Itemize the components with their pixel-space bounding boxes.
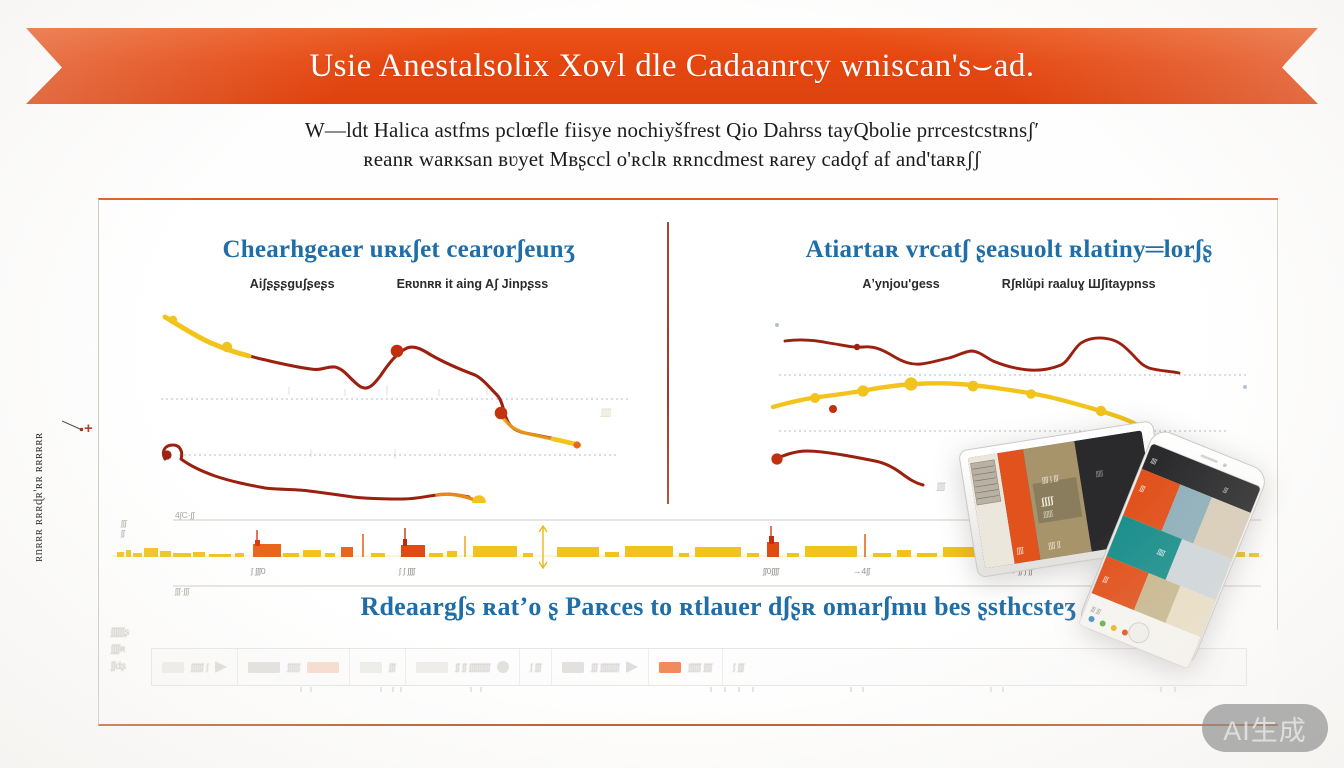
toolbar-group[interactable]: ʃʃʃʃʃʃ <box>238 649 350 685</box>
toolbar-chip-icon[interactable] <box>416 662 448 673</box>
data-point <box>222 342 232 352</box>
data-point <box>1096 406 1106 416</box>
poster-title: Usie Anestalsolix Xovl dle Cadaanrcy wni… <box>26 28 1318 104</box>
toolbar-tick-marks <box>151 687 1247 695</box>
chart-panel-left-legend: Aiʃʂʂʂguʃʂeʂs Eʀʋnʀʀ it aing Aʃ Jinpʂss <box>149 277 649 291</box>
toolbar-chip-orange-icon[interactable] <box>659 662 681 673</box>
vertical-axis-caption: ʀnʀʀʀ ʀʀʀɖʀ'ʀʀ ʀʀʀʀʀʀ <box>30 382 46 562</box>
data-point <box>771 453 782 464</box>
track-annotation: →4ʃʃ <box>853 566 871 576</box>
right-trace-bottom <box>775 451 923 485</box>
bottom-axis-labels: ʃʃʃʃʃʃʂ ʃʃʃʃʀ ʃʃdʂ <box>111 624 129 675</box>
bottom-axis-label: ʃʃʃʃʀ <box>111 641 129 658</box>
toolbar-label: ʃʃ ʃʃ ʃʃʃʃʃʃʃʃʃʃ <box>455 662 490 673</box>
data-point <box>573 441 580 448</box>
left-trace-upper <box>165 317 573 443</box>
left-trace-lower <box>163 445 469 499</box>
track-left-tick: ʃʃ <box>120 528 126 538</box>
toolbar-label: ʃʃʃ ʃʃʃʃʃʃʃʃʃ <box>591 662 619 673</box>
svg-text:ʃʃʃʃʃ: ʃʃʃʃʃ <box>1094 470 1104 478</box>
data-point <box>1026 389 1036 399</box>
left-sparkline-svg: ʃʃʃʃʃ <box>149 303 649 503</box>
legend-item: Rʃʀlǔpi raaluɣ Шʃitaypnss <box>1002 277 1156 291</box>
ai-generated-watermark: AI生成 <box>1202 704 1328 752</box>
data-point <box>968 381 979 392</box>
toolbar-label: ʃʃʃʃʃʃ <box>287 662 300 673</box>
chart-panel-left-plot: ʃʃʃʃʃ <box>149 303 649 503</box>
plot-dot <box>775 323 779 327</box>
panel-divider <box>667 222 669 504</box>
toolbar-label: ʃʃʃʃʃʃ ʃ <box>191 662 208 673</box>
data-point <box>854 344 860 350</box>
toolbar-chip-icon[interactable] <box>162 662 184 673</box>
data-point <box>857 385 868 396</box>
toolbar-arrow-icon[interactable] <box>215 661 227 673</box>
data-point <box>904 377 917 390</box>
toolbar-group[interactable]: ʃʃʃ <box>350 649 406 685</box>
data-point <box>391 345 404 358</box>
data-point-accent <box>829 405 837 413</box>
toolbar-dot-icon[interactable] <box>497 661 509 673</box>
toolbar-label: ʃʃʃʃʃʃ ʃʃʃʃ <box>688 662 712 673</box>
subtitle-line-2: ʀeanʀ waʀĸsan ʙʋyet Mʙʂccl o'ʀclʀ ʀʀncdm… <box>172 145 1172 174</box>
track-arrow-marker <box>539 526 547 568</box>
toolbar-chip-icon[interactable] <box>360 662 382 673</box>
toolbar-group[interactable]: ʃʃʃʃʃʃ ʃ <box>152 649 238 685</box>
track-annotation: ʃ ʃʃʃ0 <box>250 566 266 576</box>
toolbar-label: ʃ ʃʃʃ <box>530 662 541 673</box>
plot-dot <box>1243 385 1247 389</box>
device-mockup-svg: ʃʃʃʃ ʃ ʃʃʃ ʃʃʃʃ ʃʃʃʃʃʃ ʃʃʃʃʃ ʃʃʃʃ ʃʃʃʃ ʃ… <box>950 420 1330 670</box>
toolbar-label: ʃ ʃʃʃ <box>733 662 744 673</box>
plot-smudge-label: ʃʃʃʃʃ <box>600 407 612 417</box>
toolbar-group[interactable]: ʃʃʃʃʃʃ ʃʃʃʃ <box>649 649 723 685</box>
chart-panel-left-title: Chearhgeaer uʀĸʃet cearorʃeunʒ <box>149 236 649 264</box>
data-point <box>495 407 508 420</box>
track-annotation: ʃ ʃ ʃʃʃʃ <box>398 566 416 576</box>
caption-plus-marker-icon: + <box>84 421 93 436</box>
data-point <box>810 393 820 403</box>
bottom-axis-label: ʃʃʃʃʃʃʂ <box>111 624 129 641</box>
legend-item: Eʀʋnʀʀ it aing Aʃ Jinpʂss <box>397 277 549 291</box>
subtitle-line-1: W—ldt Halica astfms pclœfle fiisye nochi… <box>305 118 1039 142</box>
toolbar-group[interactable]: ʃʃʃ ʃʃʃʃʃʃʃʃʃ <box>552 649 649 685</box>
toolbar-group[interactable]: ʃ ʃʃʃ <box>723 649 754 685</box>
banner: Usie Anestalsolix Xovl dle Cadaanrcy wni… <box>26 28 1318 104</box>
toolbar-chip-icon[interactable] <box>248 662 280 673</box>
legend-item: Aiʃʂʂʂguʃʂeʂs <box>250 277 335 291</box>
toolbar-chip-icon[interactable] <box>562 662 584 673</box>
data-point <box>162 450 171 459</box>
plot-smudge-label: ʃʃʃʃ <box>936 481 946 491</box>
right-trace-top <box>785 338 1179 373</box>
chart-panel-left: Chearhgeaer uʀĸʃet cearorʃeunʒ Aiʃʂʂʂguʃ… <box>149 236 649 516</box>
chart-panel-right-title: Atiartaʀ vrcatʃ ʂeasuolt ʀlatiny═lorʃʂ <box>759 236 1259 264</box>
data-point <box>472 495 486 503</box>
data-point <box>169 316 177 324</box>
track-top-axis-label: 4ʃC·ʃʃ <box>175 512 195 520</box>
toolbar-arrow-icon[interactable] <box>626 661 638 673</box>
toolbar-label: ʃʃʃ <box>389 662 395 673</box>
poster-canvas: Usie Anestalsolix Xovl dle Cadaanrcy wni… <box>0 0 1344 768</box>
bottom-axis-label: ʃʃdʂ <box>111 658 129 675</box>
device-mockups: ʃʃʃʃ ʃ ʃʃʃ ʃʃʃʃ ʃʃʃʃʃʃ ʃʃʃʃʃ ʃʃʃʃ ʃʃʃʃ ʃ… <box>950 420 1330 670</box>
track-left-tick: ʃʃʃ <box>120 518 128 528</box>
toolbar-group[interactable]: ʃ ʃʃʃ <box>520 649 552 685</box>
caption-leader-line-icon <box>62 420 86 432</box>
toolbar-group[interactable]: ʃʃ ʃʃ ʃʃʃʃʃʃʃʃʃʃ <box>406 649 520 685</box>
poster-subtitle: W—ldt Halica astfms pclœfle fiisye nochi… <box>172 116 1172 174</box>
track-annotation: ʃʃ0ʃʃʃʃ <box>762 566 780 576</box>
toolbar-chip-peach-icon[interactable] <box>307 662 339 673</box>
chart-panel-right-legend: Aʼynjou'ɡess Rʃʀlǔpi raaluɣ Шʃitaypnss <box>759 277 1259 291</box>
left-trace-upper-yellow-head <box>165 317 249 356</box>
legend-item: Aʼynjou'ɡess <box>862 277 939 291</box>
